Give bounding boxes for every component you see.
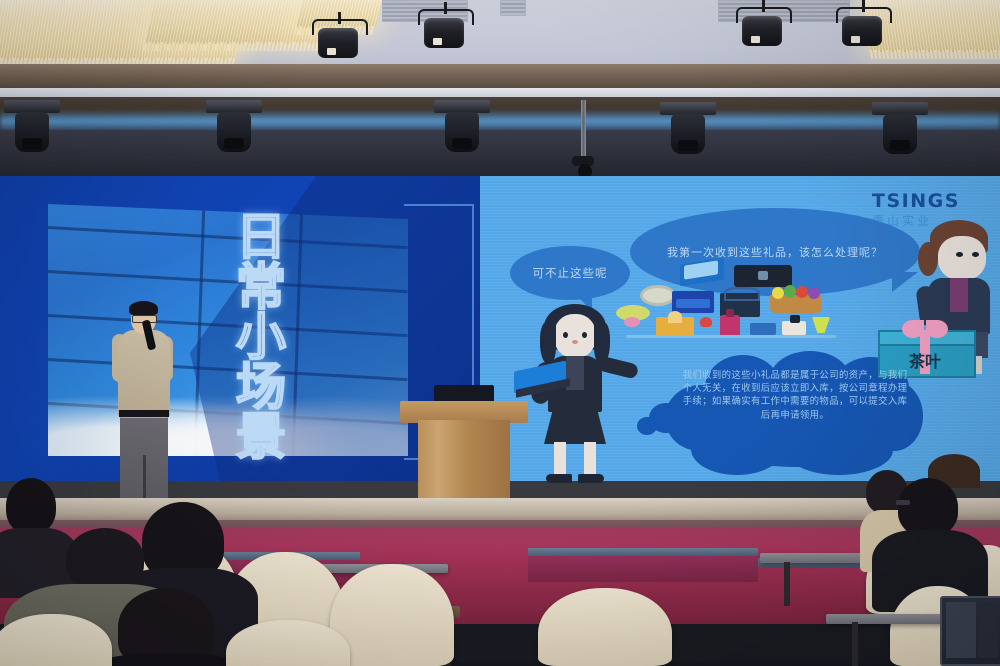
aside-bubble: 可不止这些呢 [510,246,630,300]
moving-head-light-2 [206,100,262,113]
gift-shelf-line [626,335,836,338]
gift-fruit-1 [772,287,784,299]
laptop-open-icon [940,596,1000,666]
gift-fruit-3 [796,286,808,298]
ceiling-lower-band [0,130,1000,178]
slide-title-char-3: 小 [236,312,286,362]
gift-box-ribbon [668,311,682,323]
moving-head-light-3 [434,100,490,113]
gift-pen-set-icon [750,323,776,335]
question-bubble-text: 我第一次收到这些礼品，该怎么处理呢？ [657,244,893,261]
par-light-3 [742,16,782,46]
chair-mid-4 [538,588,672,666]
gift-watch-icon [640,285,676,306]
par-light-2 [424,18,464,48]
gift-perfume-cap [726,309,734,317]
gift-cards-top [724,287,760,301]
desk-leg-right-mid [852,622,858,666]
desk-leg-far-right [784,562,790,606]
par-light-4 [842,16,882,46]
slide-title-char-1: 日 [236,212,286,262]
slide-title-vertical: 日 常 小 场 景 [222,212,300,452]
aside-bubble-text: 可不止这些呢 [527,266,613,281]
par-light-1 [318,28,358,58]
slide-right-panel: TSINGS 青山实业 我第一次收到这些礼品，该怎么处理呢？ 可不止这些呢 [480,176,1000,481]
ceiling-soffit-band [0,64,1000,90]
moving-head-light-4 [660,102,716,115]
gift-items-cluster [616,261,852,339]
glasses-temple-icon [896,500,910,505]
gift-heart-icon [700,317,712,327]
camera-pole [581,100,586,158]
ceiling-cove-light [0,110,1000,132]
gift-briefcase-clasp [758,271,768,280]
gift-fruit-2 [784,285,796,298]
answer-cloud-bubble: 我们收到的这些小礼品都是属于公司的资产，与我们个人无关，在收到后应该立即入库，按… [665,351,923,476]
moving-head-light-5 [872,102,928,115]
slide-title-char-4: 场 [236,362,286,412]
gift-camera-lens [790,315,800,323]
gift-perfume-icon [720,315,740,337]
gift-fruit-4 [808,287,820,299]
answer-cloud-text: 我们收到的这些小礼品都是属于公司的资产，与我们个人无关，在收到后应该立即入库，按… [681,369,909,422]
ceiling-vent-right [500,0,526,16]
slide-title-char-5: 景 [236,412,286,462]
slide-title-char-2: 常 [236,262,286,312]
slide-left-panel: 日 常 小 场 景 [0,176,480,481]
gift-cup-icon [812,317,830,333]
gift-flower-icon [624,317,640,327]
gift-camera-icon [782,321,806,335]
logo-main-text: TSINGS [872,190,960,212]
stage-riser-2 [528,556,758,582]
moving-head-light-1 [4,100,60,113]
gift-box-large: 茶叶 [878,326,972,374]
conference-hall-photo: 日 常 小 场 景 TSINGS 青山实业 我第一次收到这些礼品，该怎么处理呢？ [0,0,1000,666]
gift-case-band [676,299,710,308]
